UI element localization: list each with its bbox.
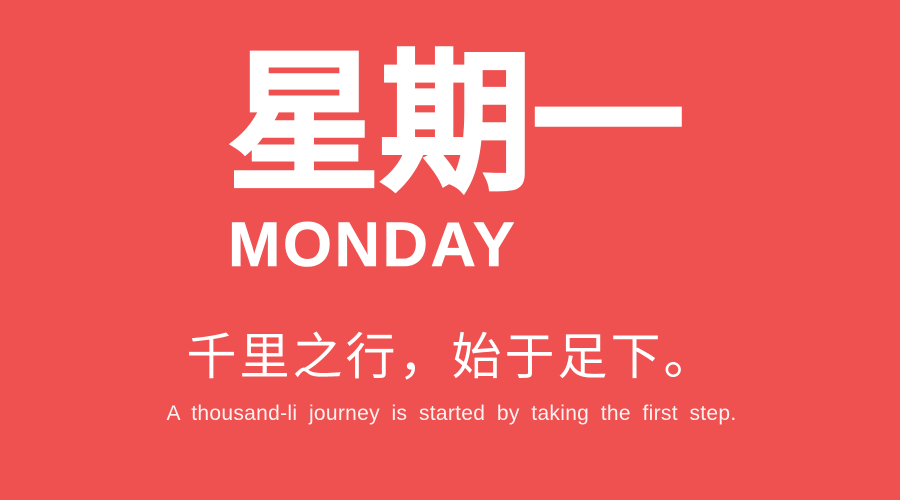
- daily-quote-card: 星期一 MONDAY 千里之行，始于足下。 A thousand-li jour…: [0, 0, 900, 500]
- day-name-chinese: 星期一: [228, 48, 788, 200]
- day-name-english: MONDAY: [228, 214, 788, 277]
- quote-block: 千里之行，始于足下。 A thousand-li journey is star…: [0, 330, 900, 426]
- quote-chinese: 千里之行，始于足下。: [0, 330, 900, 384]
- quote-english: A thousand-li journey is started by taki…: [0, 401, 900, 426]
- day-title-block: 星期一 MONDAY: [228, 48, 788, 277]
